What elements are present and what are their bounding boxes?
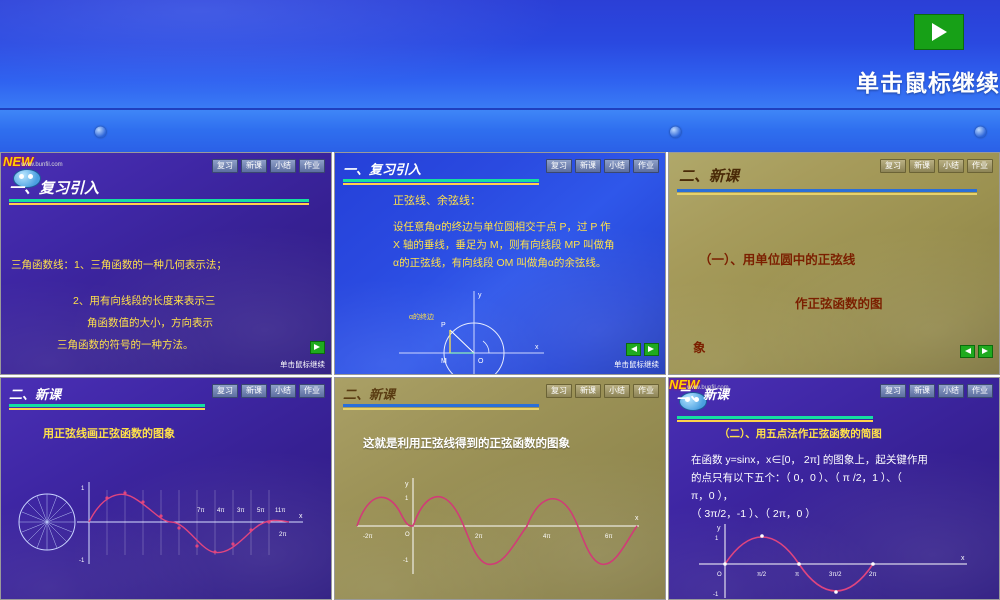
- bullet-dot-mid: [670, 127, 681, 138]
- slide-2-nav[interactable]: [626, 343, 659, 356]
- slide-3-line-2: 作正弦函数的图: [795, 295, 883, 314]
- svg-text:O: O: [405, 532, 410, 538]
- button-summary[interactable]: 小结: [604, 384, 630, 398]
- slide-2-line-2: X 轴的垂线，垂足为 M，则有向线段 MP 叫做角: [393, 237, 614, 253]
- slide-3-nav[interactable]: [960, 345, 993, 358]
- slide-3-rule: [677, 189, 977, 192]
- button-homework[interactable]: 作业: [633, 159, 659, 173]
- sine-construction-graph: 1 -1 7π 4π 3π 5π 11π 2π x: [11, 460, 311, 580]
- play-icon: [932, 23, 947, 41]
- slide-2-rule2: [343, 183, 539, 185]
- slide-4-rule2: [9, 408, 205, 410]
- button-review[interactable]: 复习: [212, 159, 238, 173]
- slide-2-title: 一、复习引入: [343, 159, 421, 178]
- slide-6-buttons[interactable]: 复习 新课 小结 作业: [880, 384, 993, 398]
- button-homework[interactable]: 作业: [967, 384, 993, 398]
- slide-3-buttons[interactable]: 复习 新课 小结 作业: [880, 159, 993, 173]
- button-homework[interactable]: 作业: [299, 384, 325, 398]
- button-review[interactable]: 复习: [546, 384, 572, 398]
- slide-6[interactable]: NEW www.bunfil.com 二、新课 复习 新课 小结 作业 （二）、…: [668, 377, 1000, 600]
- play-button[interactable]: [914, 14, 964, 50]
- svg-text:M: M: [441, 358, 447, 365]
- svg-text:x: x: [635, 515, 639, 522]
- svg-text:-1: -1: [403, 558, 409, 564]
- svg-text:2π: 2π: [869, 572, 876, 578]
- slide-5-rule2: [343, 408, 539, 410]
- slide-1-line-3: 角函数值的大小，方向表示: [87, 315, 213, 331]
- slide-1-buttons[interactable]: 复习 新课 小结 作业: [212, 159, 325, 173]
- svg-text:x: x: [961, 555, 965, 562]
- slide-3-title: 二、新课: [679, 165, 739, 186]
- slide-1-nav[interactable]: [310, 341, 325, 354]
- svg-text:x: x: [299, 513, 303, 520]
- svg-text:1: 1: [81, 486, 85, 492]
- slide-1-rule: [9, 199, 309, 202]
- unit-circle-diagram: α的终边 P M O y x: [379, 283, 569, 375]
- next-arrow-icon[interactable]: [978, 345, 993, 358]
- svg-text:3π/2: 3π/2: [829, 572, 842, 578]
- slide-2[interactable]: 一、复习引入 复习 新课 小结 作业 正弦线、余弦线： 设任意角α的终边与单位圆…: [334, 152, 666, 375]
- button-summary[interactable]: 小结: [938, 384, 964, 398]
- slide-6-line-3: π，0 ），: [691, 488, 733, 504]
- slide-1-line-2: 2、用有向线段的长度来表示三: [73, 293, 215, 309]
- button-review[interactable]: 复习: [880, 159, 906, 173]
- button-summary[interactable]: 小结: [938, 159, 964, 173]
- svg-text:α的终边: α的终边: [409, 312, 434, 321]
- slide-1-line-1: 三角函数线：1、三角函数的一种几何表示法；: [11, 257, 227, 273]
- slide-6-rule: [677, 416, 873, 419]
- slide-3[interactable]: 二、新课 复习 新课 小结 作业 （一）、用单位圆中的正弦线 作正弦函数的图 象: [668, 152, 1000, 375]
- banner-hint: 单击鼠标继续: [856, 64, 1000, 98]
- svg-text:y: y: [717, 525, 721, 532]
- svg-text:4π: 4π: [543, 534, 550, 540]
- slide-1-footnote: 单击鼠标继续: [280, 359, 325, 370]
- svg-text:O: O: [717, 572, 722, 578]
- slide-3-rule2: [677, 193, 977, 195]
- button-review[interactable]: 复习: [212, 384, 238, 398]
- slide-2-line-1: 设任意角α的终边与单位圆相交于点 P，过 P 作: [393, 219, 611, 235]
- slide-6-heading: （二）、用五点法作正弦函数的简图: [719, 426, 882, 442]
- svg-text:P: P: [441, 322, 446, 329]
- svg-text:-1: -1: [713, 592, 719, 598]
- svg-text:5π: 5π: [257, 508, 264, 514]
- svg-text:2π: 2π: [475, 534, 482, 540]
- button-summary[interactable]: 小结: [604, 159, 630, 173]
- next-arrow-icon[interactable]: [310, 341, 325, 354]
- svg-text:x: x: [535, 344, 539, 351]
- slide-4-buttons[interactable]: 复习 新课 小结 作业: [212, 384, 325, 398]
- sine-curve-graph: y 1 -1 O -2π 2π 4π 6π x: [347, 470, 647, 582]
- slide-1-rule2: [9, 203, 309, 205]
- svg-text:2π: 2π: [279, 532, 286, 538]
- svg-text:7π: 7π: [197, 508, 204, 514]
- prev-arrow-icon[interactable]: [960, 345, 975, 358]
- slide-4-rule: [9, 404, 205, 407]
- slide-5-title: 二、新课: [343, 384, 395, 403]
- svg-text:-2π: -2π: [363, 534, 372, 540]
- slide-2-footnote: 单击鼠标继续: [614, 359, 659, 370]
- slide-6-title: 二、新课: [677, 384, 729, 403]
- svg-text:-1: -1: [79, 558, 85, 564]
- svg-text:y: y: [478, 292, 482, 299]
- button-review[interactable]: 复习: [546, 159, 572, 173]
- slide-contact-sheet: 单击鼠标继续 NEW www.bunfil.com 一、复习引入 复习 新课 小…: [0, 0, 1000, 600]
- slide-4-heading: 用正弦线画正弦函数的图象: [43, 426, 175, 443]
- slide-3-line-3: 象: [693, 339, 706, 358]
- slide-5-buttons[interactable]: 复习 新课 小结 作业: [546, 384, 659, 398]
- slide-2-rule: [343, 179, 539, 182]
- slide-1-title: 一、复习引入: [9, 177, 99, 198]
- slide-6-line-2: 的点只有以下五个：（ 0，0 ）、（ π /2，1 ）、（: [691, 470, 902, 486]
- slide-3-line-1: （一）、用单位圆中的正弦线: [699, 251, 855, 270]
- new-badge-url: www.bunfil.com: [21, 162, 63, 168]
- top-banner: 单击鼠标继续: [0, 0, 1000, 108]
- svg-text:1: 1: [405, 496, 409, 502]
- prev-arrow-icon[interactable]: [626, 343, 641, 356]
- slide-4[interactable]: 二、新课 复习 新课 小结 作业 用正弦线画正弦函数的图象: [0, 377, 332, 600]
- slide-2-buttons[interactable]: 复习 新课 小结 作业: [546, 159, 659, 173]
- bullet-dot-left: [95, 127, 106, 138]
- svg-text:11π: 11π: [275, 508, 285, 514]
- slide-5-heading: 这就是利用正弦线得到的正弦函数的图象: [363, 436, 570, 454]
- slide-1[interactable]: NEW www.bunfil.com 一、复习引入 复习 新课 小结 作业 三角…: [0, 152, 332, 375]
- svg-text:O: O: [478, 358, 484, 365]
- svg-text:π/2: π/2: [757, 572, 767, 578]
- button-newlesson[interactable]: 新课: [575, 384, 601, 398]
- bullet-dot-right: [975, 127, 986, 138]
- button-newlesson[interactable]: 新课: [909, 384, 935, 398]
- button-homework[interactable]: 作业: [633, 384, 659, 398]
- five-point-sine-graph: y 1 -1 O π/2 π 3π/2 2π x: [689, 518, 979, 600]
- button-newlesson[interactable]: 新课: [909, 159, 935, 173]
- svg-text:6π: 6π: [605, 534, 612, 540]
- button-summary[interactable]: 小结: [270, 384, 296, 398]
- slide-2-line-3: α的正弦线，有向线段 OM 叫做角α的余弦线。: [393, 255, 606, 271]
- slide-4-title: 二、新课: [9, 384, 61, 403]
- next-arrow-icon[interactable]: [644, 343, 659, 356]
- slide-5-rule: [343, 404, 539, 407]
- svg-text:π: π: [795, 572, 799, 578]
- slide-5[interactable]: 二、新课 复习 新课 小结 作业 这就是利用正弦线得到的正弦函数的图象 y 1 …: [334, 377, 666, 600]
- slide-2-subtitle: 正弦线、余弦线：: [393, 193, 481, 210]
- banner-strip: [0, 108, 1000, 154]
- button-review[interactable]: 复习: [880, 384, 906, 398]
- button-homework[interactable]: 作业: [299, 159, 325, 173]
- button-newlesson[interactable]: 新课: [575, 159, 601, 173]
- svg-text:y: y: [405, 481, 409, 488]
- button-newlesson[interactable]: 新课: [241, 384, 267, 398]
- slide-6-rule2: [677, 420, 873, 422]
- slide-6-line-1: 在函数 y=sinx，x∈[0， 2π] 的图象上，起关键作用: [691, 452, 928, 468]
- button-summary[interactable]: 小结: [270, 159, 296, 173]
- svg-text:4π: 4π: [217, 508, 224, 514]
- svg-text:1: 1: [715, 536, 719, 542]
- button-homework[interactable]: 作业: [967, 159, 993, 173]
- slide-1-line-4: 三角函数的符号的一种方法。: [57, 337, 194, 353]
- svg-text:3π: 3π: [237, 508, 244, 514]
- button-newlesson[interactable]: 新课: [241, 159, 267, 173]
- slide-grid: NEW www.bunfil.com 一、复习引入 复习 新课 小结 作业 三角…: [0, 152, 1000, 600]
